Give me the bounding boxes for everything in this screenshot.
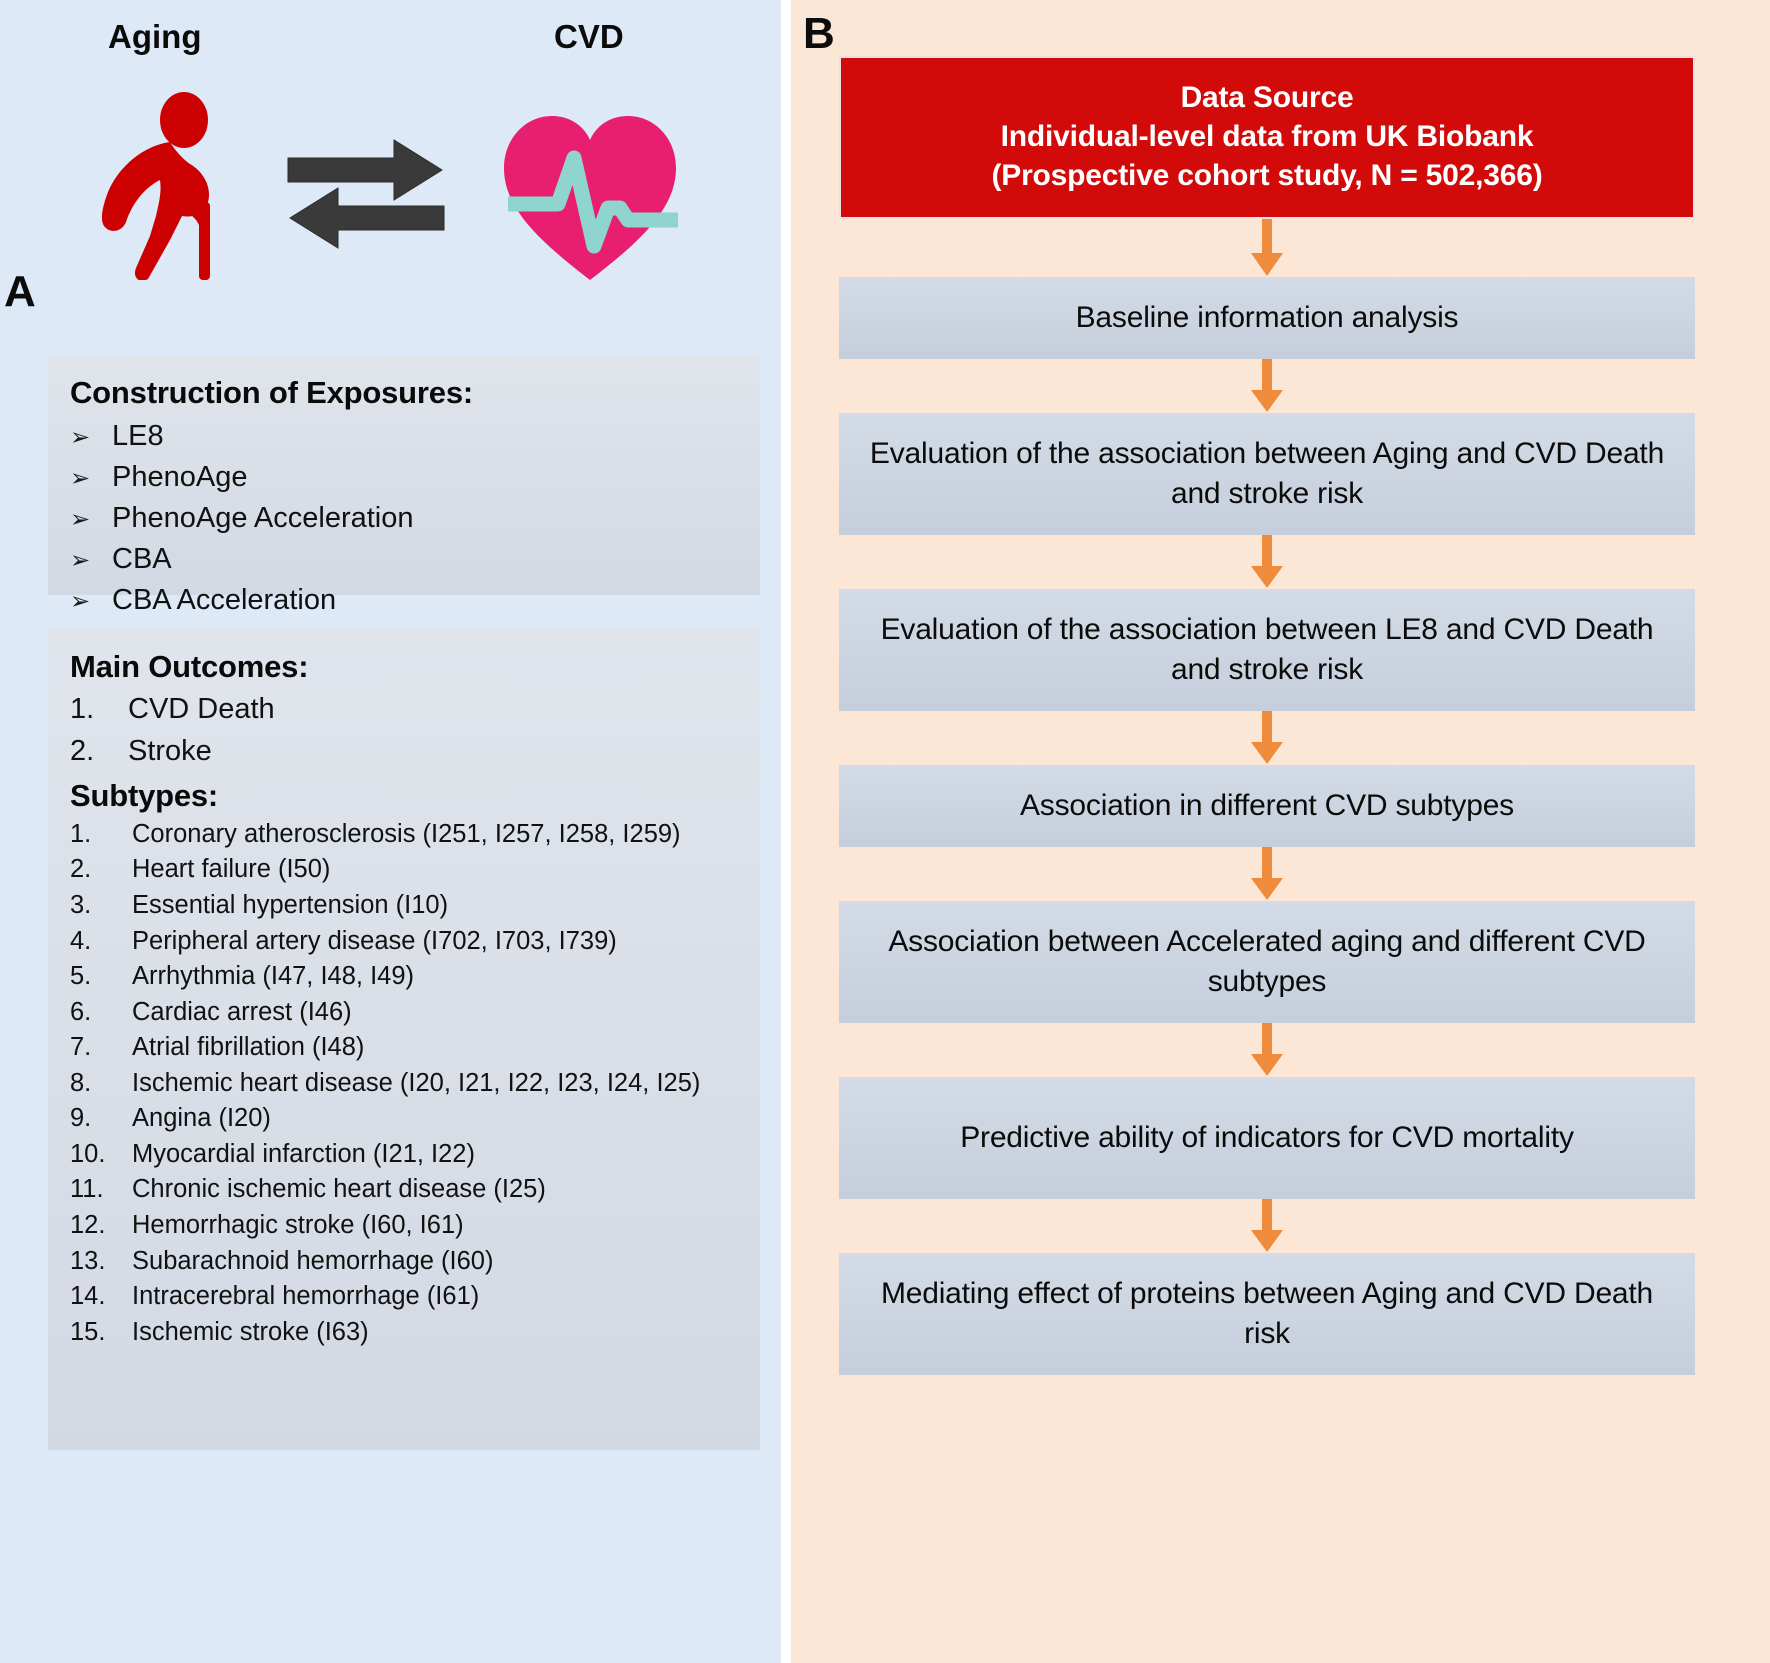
- flow-arrow-icon: [839, 1023, 1695, 1077]
- panel-a: A Aging CVD: [0, 0, 781, 1663]
- flow-arrow-icon: [839, 847, 1695, 901]
- concept-icon-row: Aging CVD: [0, 0, 781, 300]
- list-number: 6.: [70, 995, 132, 1031]
- bidirectional-arrows-icon: [286, 136, 446, 256]
- list-item: 11. Chronic ischemic heart disease (I25): [70, 1172, 760, 1208]
- subtype-label: Myocardial infarction (I21, I22): [132, 1137, 748, 1173]
- subtype-label: Intracerebral hemorrhage (I61): [132, 1279, 748, 1315]
- main-outcomes-list: 1. CVD Death 2. Stroke: [70, 688, 760, 773]
- list-item: 15. Ischemic stroke (I63): [70, 1315, 760, 1351]
- list-number: 5.: [70, 959, 132, 995]
- list-item: ➢ PhenoAge: [70, 457, 760, 498]
- flow-arrow-icon: [839, 1199, 1695, 1253]
- flow-step-box: Evaluation of the association between LE…: [839, 589, 1695, 711]
- subtype-label: Angina (I20): [132, 1101, 748, 1137]
- list-number: 15.: [70, 1315, 132, 1351]
- flow-arrow-icon: [839, 219, 1695, 277]
- arrow-bullet-icon: ➢: [70, 544, 112, 578]
- exposure-label: PhenoAge Acceleration: [112, 498, 414, 539]
- subtype-label: Atrial fibrillation (I48): [132, 1030, 748, 1066]
- subtype-label: Peripheral artery disease (I702, I703, I…: [132, 924, 748, 960]
- list-item: ➢ CBA Acceleration: [70, 580, 760, 621]
- construction-of-exposures-card: Construction of Exposures: ➢ LE8 ➢ Pheno…: [48, 355, 760, 595]
- list-item: 1. CVD Death: [70, 688, 760, 730]
- list-item: 2. Heart failure (I50): [70, 852, 760, 888]
- subtype-label: Arrhythmia (I47, I48, I49): [132, 959, 748, 995]
- flow-step-box: Mediating effect of proteins between Agi…: [839, 1253, 1695, 1375]
- elderly-person-with-cane-icon: [78, 90, 268, 285]
- exposure-label: LE8: [112, 416, 164, 457]
- list-number: 12.: [70, 1208, 132, 1244]
- flow-step-box: Baseline information analysis: [839, 277, 1695, 359]
- subtype-label: Heart failure (I50): [132, 852, 748, 888]
- list-number: 10.: [70, 1137, 132, 1173]
- subtype-label: Essential hypertension (I10): [132, 888, 748, 924]
- flow-step-box: Evaluation of the association between Ag…: [839, 413, 1695, 535]
- data-source-title: Data Source: [851, 78, 1683, 117]
- flow-step-label: Evaluation of the association between Ag…: [865, 434, 1669, 513]
- list-number: 1.: [70, 688, 128, 730]
- list-item: ➢ CBA: [70, 539, 760, 580]
- subtype-label: Chronic ischemic heart disease (I25): [132, 1172, 748, 1208]
- exposure-label: CBA Acceleration: [112, 580, 336, 621]
- outcome-label: CVD Death: [128, 688, 760, 730]
- arrow-bullet-icon: ➢: [70, 585, 112, 619]
- list-item: 12. Hemorrhagic stroke (I60, I61): [70, 1208, 760, 1244]
- heart-with-ecg-icon: [498, 108, 683, 293]
- subtype-label: Hemorrhagic stroke (I60, I61): [132, 1208, 748, 1244]
- list-item: 10. Myocardial infarction (I21, I22): [70, 1137, 760, 1173]
- flow-step-box: Association between Accelerated aging an…: [839, 901, 1695, 1023]
- flow-step-label: Predictive ability of indicators for CVD…: [960, 1118, 1574, 1158]
- subtypes-list: 1. Coronary atherosclerosis (I251, I257,…: [70, 817, 760, 1350]
- list-item: ➢ LE8: [70, 416, 760, 457]
- flow-step-box: Predictive ability of indicators for CVD…: [839, 1077, 1695, 1199]
- flow-step-label: Baseline information analysis: [1076, 298, 1459, 338]
- main-outcomes-card: Main Outcomes: 1. CVD Death 2. Stroke Su…: [48, 627, 760, 1450]
- flow-step-label: Association between Accelerated aging an…: [865, 922, 1669, 1001]
- list-number: 2.: [70, 730, 128, 772]
- flow-step-box: Association in different CVD subtypes: [839, 765, 1695, 847]
- flow-arrow-icon: [839, 535, 1695, 589]
- list-item: 2. Stroke: [70, 730, 760, 772]
- subtype-label: Coronary atherosclerosis (I251, I257, I2…: [132, 817, 748, 853]
- data-source-box: Data Source Individual-level data from U…: [839, 56, 1695, 219]
- aging-label: Aging: [108, 18, 201, 56]
- flow-arrow-icon: [839, 711, 1695, 765]
- list-number: 14.: [70, 1279, 132, 1315]
- panel-b: B Data Source Individual-level data from…: [791, 0, 1770, 1663]
- outcomes-heading: Main Outcomes:: [70, 649, 760, 686]
- subtypes-heading: Subtypes:: [70, 778, 760, 815]
- arrow-bullet-icon: ➢: [70, 421, 112, 455]
- list-item: 4. Peripheral artery disease (I702, I703…: [70, 924, 760, 960]
- list-item: 3. Essential hypertension (I10): [70, 888, 760, 924]
- exposures-list: ➢ LE8 ➢ PhenoAge ➢ PhenoAge Acceleration…: [70, 416, 760, 622]
- list-item: 9. Angina (I20): [70, 1101, 760, 1137]
- flow-step-label: Evaluation of the association between LE…: [865, 610, 1669, 689]
- arrow-bullet-icon: ➢: [70, 462, 112, 496]
- list-number: 13.: [70, 1244, 132, 1280]
- data-source-line3: (Prospective cohort study, N = 502,366): [851, 156, 1683, 195]
- list-number: 7.: [70, 1030, 132, 1066]
- flow-step-label: Mediating effect of proteins between Agi…: [865, 1274, 1669, 1353]
- data-source-line2: Individual-level data from UK Biobank: [851, 117, 1683, 156]
- list-item: 6. Cardiac arrest (I46): [70, 995, 760, 1031]
- panel-divider: [781, 0, 791, 1663]
- exposures-heading: Construction of Exposures:: [70, 375, 760, 412]
- list-item: 13. Subarachnoid hemorrhage (I60): [70, 1244, 760, 1280]
- list-item: 1. Coronary atherosclerosis (I251, I257,…: [70, 817, 760, 853]
- list-item: ➢ PhenoAge Acceleration: [70, 498, 760, 539]
- list-item: 7. Atrial fibrillation (I48): [70, 1030, 760, 1066]
- list-number: 11.: [70, 1172, 132, 1208]
- exposure-label: CBA: [112, 539, 172, 580]
- list-item: 5. Arrhythmia (I47, I48, I49): [70, 959, 760, 995]
- subtype-label: Cardiac arrest (I46): [132, 995, 748, 1031]
- list-number: 3.: [70, 888, 132, 924]
- outcome-label: Stroke: [128, 730, 760, 772]
- list-number: 1.: [70, 817, 132, 853]
- arrow-bullet-icon: ➢: [70, 503, 112, 537]
- list-number: 8.: [70, 1066, 132, 1102]
- flow-step-label: Association in different CVD subtypes: [1020, 786, 1514, 826]
- subtype-label: Ischemic heart disease (I20, I21, I22, I…: [132, 1066, 748, 1102]
- cvd-label: CVD: [554, 18, 624, 56]
- list-item: 8. Ischemic heart disease (I20, I21, I22…: [70, 1066, 760, 1102]
- subtype-label: Subarachnoid hemorrhage (I60): [132, 1244, 748, 1280]
- list-number: 4.: [70, 924, 132, 960]
- exposure-label: PhenoAge: [112, 457, 247, 498]
- panel-b-letter: B: [803, 12, 834, 56]
- list-number: 2.: [70, 852, 132, 888]
- list-number: 9.: [70, 1101, 132, 1137]
- flow-arrow-icon: [839, 359, 1695, 413]
- subtype-label: Ischemic stroke (I63): [132, 1315, 748, 1351]
- workflow-flowchart: Data Source Individual-level data from U…: [839, 56, 1695, 1375]
- list-item: 14. Intracerebral hemorrhage (I61): [70, 1279, 760, 1315]
- study-design-figure: A Aging CVD: [0, 0, 1770, 1663]
